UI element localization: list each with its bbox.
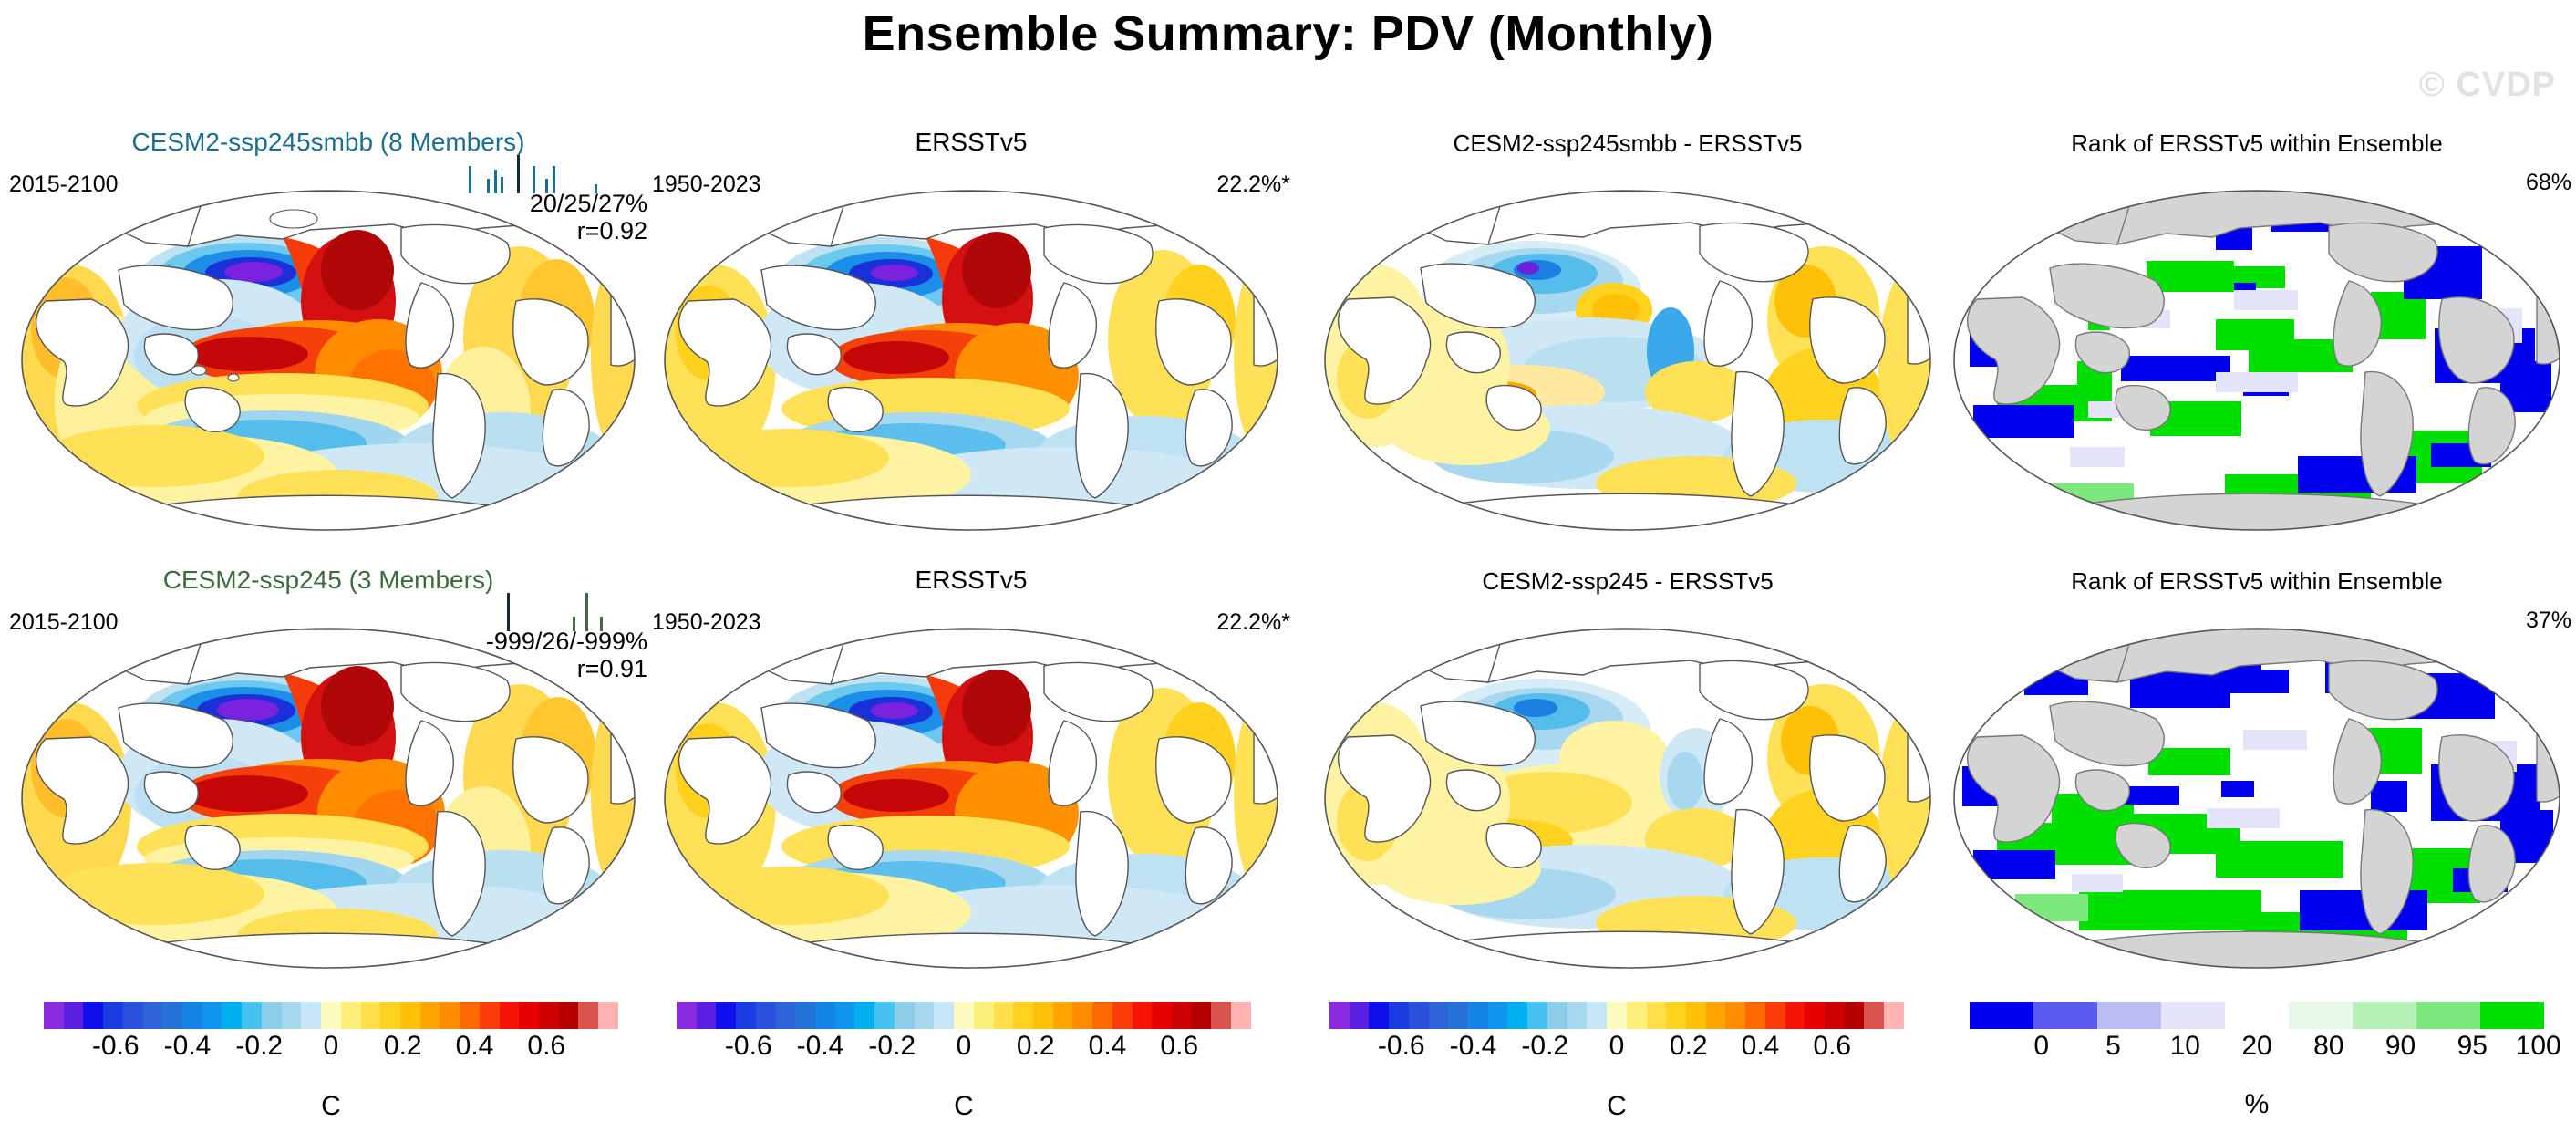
colorbar-cell xyxy=(500,1002,520,1029)
colorbar-cell xyxy=(1547,1002,1567,1029)
globe-svg xyxy=(1942,620,2571,976)
colorbar-cell xyxy=(1805,1002,1825,1029)
colorbar-cell xyxy=(321,1002,341,1029)
panel-row2-rank[interactable]: Rank of ERSSTv5 within Ensemble 37% xyxy=(1942,566,2571,976)
colorbar-ticks: -0.6-0.4-0.200.20.40.6 xyxy=(677,1031,1251,1064)
colorbar-cell xyxy=(1647,1002,1667,1029)
colorbar-cell xyxy=(1745,1002,1765,1029)
globe-svg xyxy=(652,620,1290,976)
colorbar-cell xyxy=(2289,1002,2353,1029)
colorbar-ticks: -0.6-0.4-0.200.20.40.6 xyxy=(1329,1031,1904,1064)
colorbar-tick-label: 5 xyxy=(2105,1031,2121,1062)
colorbar-cell xyxy=(1884,1002,1904,1029)
panel-row1-difference[interactable]: CESM2-ssp245smbb - ERSSTv5 xyxy=(1313,128,1942,538)
colorbar-cell xyxy=(1845,1002,1865,1029)
globe-svg xyxy=(9,620,647,976)
colorbar-cell xyxy=(182,1002,202,1029)
colorbar-cell xyxy=(1448,1002,1468,1029)
colorbar-unit: C xyxy=(1329,1091,1904,1122)
colorbar-cell xyxy=(1172,1002,1192,1029)
colorbar-cell xyxy=(103,1002,123,1029)
colorbar-cell xyxy=(202,1002,222,1029)
colorbar-cell xyxy=(1350,1002,1370,1029)
colorbar-cell xyxy=(578,1002,598,1029)
colorbar-cell xyxy=(1152,1002,1172,1029)
colorbar-tick-label: 0.4 xyxy=(1089,1031,1127,1062)
colorbar-cell xyxy=(1825,1002,1845,1029)
map-plot[interactable] xyxy=(1313,620,1942,976)
colorbar-cell xyxy=(2097,1002,2161,1029)
colorbar-cell xyxy=(64,1002,84,1029)
figure-canvas: Ensemble Summary: PDV (Monthly) © CVDP C… xyxy=(0,0,2576,1113)
colorbar-tick-label: 0 xyxy=(1609,1031,1625,1062)
colorbar-strip xyxy=(677,1002,1251,1029)
colorbar-cell xyxy=(123,1002,143,1029)
colorbar-cell xyxy=(1785,1002,1805,1029)
colorbar-ticks: -0.6-0.4-0.200.20.40.6 xyxy=(44,1031,618,1064)
colorbar-cell xyxy=(915,1002,935,1029)
colorbar-cell xyxy=(282,1002,302,1029)
panel-row2-obs[interactable]: ERSSTv5 1950-2023 22.2%* xyxy=(652,566,1290,976)
map-plot[interactable] xyxy=(1942,182,2571,538)
panel-row1-obs[interactable]: ERSSTv5 1950-2023 22.2%* xyxy=(652,128,1290,538)
colorbar-tick-label: 0.4 xyxy=(456,1031,494,1062)
colorbar-cell xyxy=(539,1002,559,1029)
colorbar-cell xyxy=(1013,1002,1033,1029)
colorbar-strip xyxy=(44,1002,618,1029)
page-title: Ensemble Summary: PDV (Monthly) xyxy=(0,5,2576,62)
colorbar-cell xyxy=(222,1002,242,1029)
colorbar-strip xyxy=(1329,1002,1904,1029)
map-plot[interactable] xyxy=(652,182,1290,538)
colorbar-cell xyxy=(716,1002,736,1029)
colorbar-ticks: 051020809095100 xyxy=(1970,1031,2544,1064)
colorbar-cell xyxy=(974,1002,994,1029)
colorbar-unit: C xyxy=(44,1091,618,1122)
panel-row2-model[interactable]: CESM2-ssp245 (3 Members) 2015-2100 -999/… xyxy=(9,566,647,976)
colorbar-tick-label: 0 xyxy=(2033,1031,2049,1062)
colorbar-cell xyxy=(262,1002,282,1029)
colorbar-cell xyxy=(361,1002,381,1029)
map-plot[interactable] xyxy=(9,620,647,976)
colorbar-tick-label: -0.2 xyxy=(235,1031,283,1062)
panel-title: Rank of ERSSTv5 within Ensemble xyxy=(1942,567,2571,596)
colorbar-tick-label: 0 xyxy=(324,1031,339,1062)
colorbar-cell xyxy=(994,1002,1014,1029)
colorbar-cell xyxy=(242,1002,262,1029)
colorbar-cell xyxy=(143,1002,163,1029)
colorbar-cell xyxy=(954,1002,974,1029)
panel-row1-model[interactable]: CESM2-ssp245smbb (8 Members) 2015-2100 2… xyxy=(9,128,647,538)
colorbar-cell xyxy=(1527,1002,1547,1029)
colorbar-cell xyxy=(736,1002,756,1029)
colorbar-tick-label: -0.6 xyxy=(725,1031,772,1062)
colorbar-cell xyxy=(1765,1002,1785,1029)
colorbar-tick-label: 0.6 xyxy=(1813,1031,1851,1062)
colorbar-tick-label: -0.4 xyxy=(797,1031,844,1062)
colorbar-cell xyxy=(400,1002,420,1029)
map-plot[interactable] xyxy=(9,182,647,538)
colorbar-tick-label: 0.6 xyxy=(527,1031,565,1062)
colorbar-unit: % xyxy=(1970,1089,2544,1120)
colorbar-cell xyxy=(835,1002,855,1029)
colorbar-tick-label: 100 xyxy=(2516,1031,2561,1062)
colorbar-cell xyxy=(1686,1002,1706,1029)
colorbar-cell xyxy=(1864,1002,1884,1029)
colorbar-cell xyxy=(1725,1002,1745,1029)
colorbar-cell xyxy=(341,1002,361,1029)
colorbar-cell xyxy=(1192,1002,1212,1029)
colorbar-cell xyxy=(1133,1002,1153,1029)
colorbar-sst-2[interactable]: -0.6-0.4-0.200.20.40.6 C xyxy=(677,1002,1251,1122)
colorbar-cell xyxy=(776,1002,796,1029)
colorbar-sst-3[interactable]: -0.6-0.4-0.200.20.40.6 C xyxy=(1329,1002,1904,1122)
colorbar-cell xyxy=(1488,1002,1508,1029)
globe-svg xyxy=(1313,182,1942,538)
colorbar-tick-label: -0.6 xyxy=(1378,1031,1425,1062)
colorbar-cell xyxy=(1053,1002,1073,1029)
colorbar-cell xyxy=(598,1002,618,1029)
colorbar-tick-label: 0 xyxy=(957,1031,972,1062)
colorbar-strip xyxy=(1970,1002,2544,1029)
colorbar-cell xyxy=(1231,1002,1251,1029)
colorbar-unit: C xyxy=(677,1091,1251,1122)
panel-title: Rank of ERSSTv5 within Ensemble xyxy=(1942,130,2571,158)
colorbar-cell xyxy=(301,1002,321,1029)
colorbar-cell xyxy=(1587,1002,1607,1029)
colorbar-cell xyxy=(895,1002,915,1029)
colorbar-cell xyxy=(1211,1002,1231,1029)
colorbar-cell xyxy=(934,1002,954,1029)
panel-title: CESM2-ssp245smbb - ERSSTv5 xyxy=(1313,130,1942,158)
colorbar-tick-label: -0.4 xyxy=(1450,1031,1497,1062)
cvdp-watermark: © CVDP xyxy=(2419,66,2556,105)
colorbar-cell xyxy=(83,1002,103,1029)
map-plot[interactable] xyxy=(1313,182,1942,538)
colorbar-cell xyxy=(2161,1002,2225,1029)
colorbar-cell xyxy=(2353,1002,2416,1029)
colorbar-tick-label: -0.6 xyxy=(92,1031,140,1062)
globe-svg xyxy=(1942,182,2571,538)
colorbar-cell xyxy=(1429,1002,1449,1029)
colorbar-cell xyxy=(815,1002,835,1029)
globe-svg xyxy=(652,182,1290,538)
colorbar-cell xyxy=(480,1002,500,1029)
colorbar-tick-label: -0.2 xyxy=(868,1031,916,1062)
colorbar-cell xyxy=(2033,1002,2097,1029)
colorbar-tick-label: 0.4 xyxy=(1742,1031,1780,1062)
colorbar-cell xyxy=(1329,1002,1350,1029)
colorbar-cell xyxy=(1666,1002,1686,1029)
globe-svg xyxy=(1313,620,1942,976)
colorbar-cell xyxy=(1627,1002,1647,1029)
colorbar-sst-1[interactable]: -0.6-0.4-0.200.20.40.6 C xyxy=(44,1002,618,1122)
colorbar-tick-label: 20 xyxy=(2241,1031,2271,1062)
panel-row1-rank[interactable]: Rank of ERSSTv5 within Ensemble 68% xyxy=(1942,128,2571,538)
colorbar-tick-label: 0.2 xyxy=(384,1031,422,1062)
map-plot[interactable] xyxy=(652,620,1290,976)
panel-title: ERSSTv5 xyxy=(652,566,1290,595)
panel-row2-difference[interactable]: CESM2-ssp245 - ERSSTv5 xyxy=(1313,566,1942,976)
colorbar-cell xyxy=(162,1002,182,1029)
colorbar-tick-label: 90 xyxy=(2385,1031,2416,1062)
colorbar-cell xyxy=(559,1002,579,1029)
colorbar-tick-label: 80 xyxy=(2313,1031,2343,1062)
colorbar-cell xyxy=(2225,1002,2289,1029)
colorbar-cell xyxy=(1507,1002,1527,1029)
panel-title: CESM2-ssp245 - ERSSTv5 xyxy=(1313,567,1942,596)
colorbar-tick-label: 95 xyxy=(2457,1031,2488,1062)
colorbar-tick-label: 0.6 xyxy=(1160,1031,1198,1062)
colorbar-cell xyxy=(1970,1002,2033,1029)
colorbar-cell xyxy=(460,1002,480,1029)
colorbar-cell xyxy=(1072,1002,1092,1029)
panel-title: ERSSTv5 xyxy=(652,128,1290,157)
colorbar-tick-label: 10 xyxy=(2170,1031,2200,1062)
colorbar-cell xyxy=(440,1002,460,1029)
panel-title: CESM2-ssp245smbb (8 Members) xyxy=(9,128,647,157)
map-plot[interactable] xyxy=(1942,620,2571,976)
colorbar-cell xyxy=(1567,1002,1588,1029)
colorbar-cell xyxy=(1092,1002,1112,1029)
colorbar-tick-label: -0.4 xyxy=(164,1031,212,1062)
colorbar-cell xyxy=(380,1002,400,1029)
colorbar-cell xyxy=(756,1002,776,1029)
colorbar-cell xyxy=(1468,1002,1488,1029)
colorbar-cell xyxy=(2480,1002,2544,1029)
colorbar-cell xyxy=(420,1002,440,1029)
colorbar-cell xyxy=(697,1002,717,1029)
colorbar-tick-label: 0.2 xyxy=(1017,1031,1055,1062)
colorbar-rank[interactable]: 051020809095100 % xyxy=(1970,1002,2544,1120)
colorbar-cell xyxy=(519,1002,539,1029)
colorbar-cell xyxy=(44,1002,64,1029)
panel-title: CESM2-ssp245 (3 Members) xyxy=(9,566,647,595)
colorbar-cell xyxy=(1112,1002,1133,1029)
colorbar-tick-label: -0.2 xyxy=(1521,1031,1568,1062)
colorbar-cell xyxy=(1369,1002,1389,1029)
colorbar-cell xyxy=(1706,1002,1726,1029)
colorbar-tick-label: 0.2 xyxy=(1670,1031,1708,1062)
colorbar-cell xyxy=(1389,1002,1409,1029)
colorbar-cell xyxy=(2416,1002,2480,1029)
globe-svg xyxy=(9,182,647,538)
colorbar-cell xyxy=(1607,1002,1627,1029)
colorbar-cell xyxy=(1409,1002,1429,1029)
colorbar-cell xyxy=(854,1002,874,1029)
colorbar-cell xyxy=(874,1002,895,1029)
colorbar-cell xyxy=(677,1002,697,1029)
colorbar-cell xyxy=(1033,1002,1053,1029)
colorbar-cell xyxy=(795,1002,815,1029)
